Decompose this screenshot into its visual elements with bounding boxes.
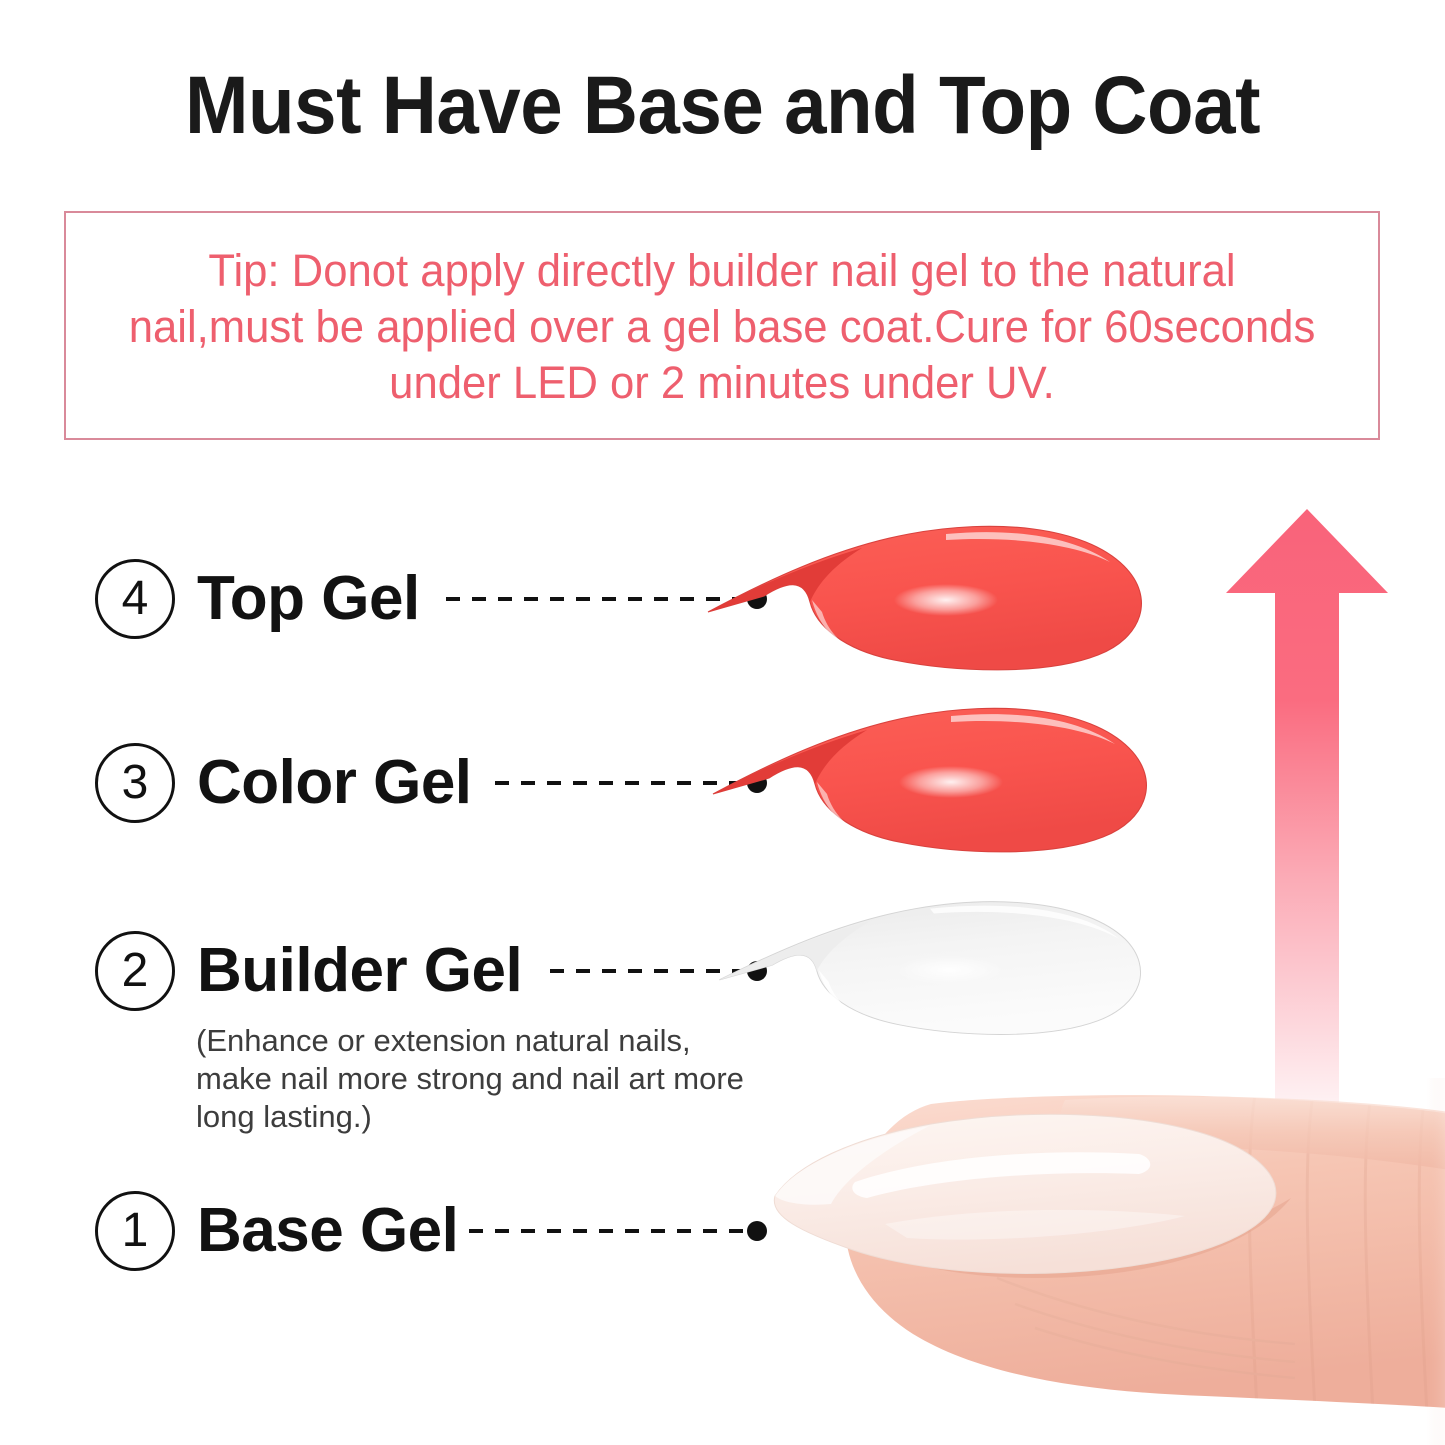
step-label-base-gel: Base Gel <box>197 1196 458 1266</box>
infographic-page: Must Have Base and Top Coat Tip: Donot a… <box>0 0 1445 1445</box>
tip-box: Tip: Donot apply directly builder nail g… <box>64 211 1380 440</box>
upward-arrow-icon <box>1222 505 1392 1145</box>
builder-gel-nail-swatch <box>700 896 1160 1052</box>
step-label-builder-gel: Builder Gel <box>197 936 522 1006</box>
step-number-badge-1: 1 <box>95 1191 175 1271</box>
fingertip-photo <box>735 1078 1445 1445</box>
step-label-top-gel: Top Gel <box>197 564 420 634</box>
top-gel-nail-swatch <box>694 520 1154 690</box>
step-item-builder-gel: 2 Builder Gel <box>95 928 522 1014</box>
step-number-badge-3: 3 <box>95 743 175 823</box>
step-item-color-gel: 3 Color Gel <box>95 740 472 826</box>
leader-line-base-gel <box>469 1229 746 1233</box>
step-note-builder-gel: (Enhance or extension natural nails, mak… <box>196 1022 756 1136</box>
step-label-color-gel: Color Gel <box>197 748 472 818</box>
tip-text: Tip: Donot apply directly builder nail g… <box>121 243 1324 411</box>
color-gel-nail-swatch <box>694 702 1164 872</box>
page-title: Must Have Base and Top Coat <box>51 58 1395 154</box>
step-item-base-gel: 1 Base Gel <box>95 1188 458 1274</box>
step-number-badge-4: 4 <box>95 559 175 639</box>
step-number-badge-2: 2 <box>95 931 175 1011</box>
step-item-top-gel: 4 Top Gel <box>95 556 420 642</box>
